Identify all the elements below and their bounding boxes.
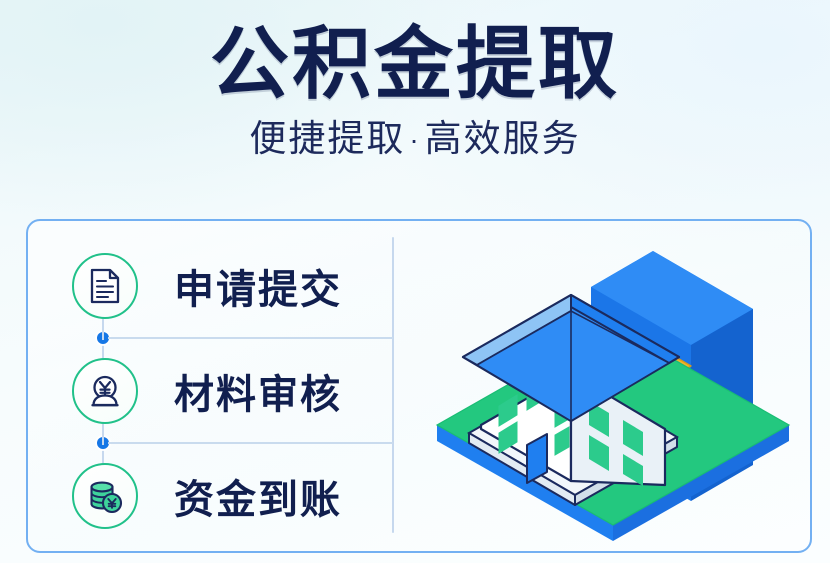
subtitle-left: 便捷提取 xyxy=(249,118,405,159)
subtitle-right: 高效服务 xyxy=(425,118,581,159)
coin-stack-icon xyxy=(72,463,138,529)
poster-root: 公积金提取 便捷提取·高效服务 xyxy=(0,0,830,563)
yen-seal-icon xyxy=(72,358,138,424)
header: 公积金提取 便捷提取·高效服务 xyxy=(0,0,830,159)
content-card: 申请提交 xyxy=(26,219,812,553)
subtitle-separator: · xyxy=(405,124,424,155)
page-title: 公积金提取 xyxy=(0,0,830,105)
step-label: 资金到账 xyxy=(174,467,342,525)
step-label: 申请提交 xyxy=(174,257,342,315)
step-item-apply[interactable]: 申请提交 xyxy=(72,233,402,338)
step-item-payout[interactable]: 资金到账 xyxy=(72,443,402,548)
step-item-review[interactable]: 材料审核 xyxy=(72,338,402,443)
illustration-house-and-card xyxy=(423,229,803,547)
page-subtitle: 便捷提取·高效服务 xyxy=(0,105,830,160)
document-icon xyxy=(72,253,138,319)
step-label: 材料审核 xyxy=(174,362,342,420)
steps-list: 申请提交 xyxy=(72,233,402,548)
